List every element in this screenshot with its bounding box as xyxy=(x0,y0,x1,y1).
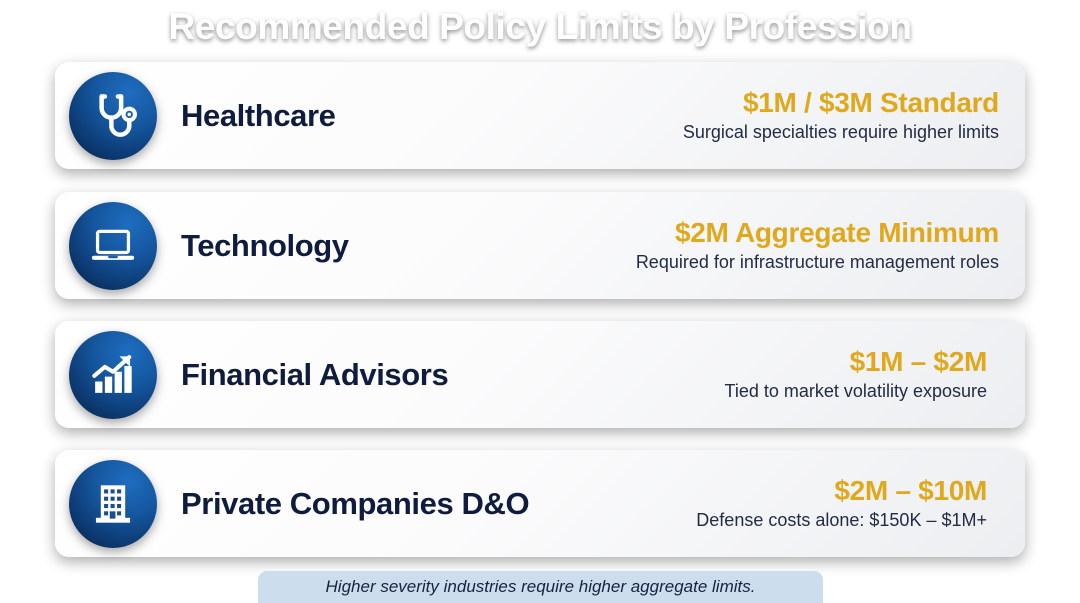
policy-limit-value: $1M – $2M xyxy=(850,346,987,377)
profession-name: Private Companies D&O xyxy=(181,486,529,522)
profession-label-wrap: Financial Advisors xyxy=(157,357,448,393)
limit-block: $1M / $3M Standard Surgical specialties … xyxy=(336,87,1025,145)
profession-name: Financial Advisors xyxy=(181,357,448,393)
office-building-icon xyxy=(69,460,157,548)
limit-block: $2M – $10M Defense costs alone: $150K – … xyxy=(529,475,1025,533)
policy-limit-value: $2M Aggregate Minimum xyxy=(675,217,999,248)
policy-limit-note: Defense costs alone: $150K – $1M+ xyxy=(696,509,987,532)
profession-row-private-companies-do: Private Companies D&O $2M – $10M Defense… xyxy=(55,450,1025,557)
profession-name: Technology xyxy=(181,228,349,264)
profession-label-wrap: Healthcare xyxy=(157,98,336,134)
profession-row-healthcare: Healthcare $1M / $3M Standard Surgical s… xyxy=(55,62,1025,169)
policy-limit-note: Surgical specialties require higher limi… xyxy=(683,121,999,144)
infographic-root: Recommended Policy Limits by Profession … xyxy=(0,0,1080,603)
footer-banner: Higher severity industries require highe… xyxy=(258,571,823,603)
policy-limit-note: Required for infrastructure management r… xyxy=(636,251,999,274)
profession-row-technology: Technology $2M Aggregate Minimum Require… xyxy=(55,192,1025,299)
growth-chart-icon xyxy=(69,331,157,419)
profession-name: Healthcare xyxy=(181,98,336,134)
policy-limit-value: $1M / $3M Standard xyxy=(743,87,999,118)
footer-text: Higher severity industries require highe… xyxy=(326,577,756,597)
page-title: Recommended Policy Limits by Profession xyxy=(0,6,1080,48)
limit-block: $2M Aggregate Minimum Required for infra… xyxy=(349,217,1025,275)
profession-row-financial-advisors: Financial Advisors $1M – $2M Tied to mar… xyxy=(55,321,1025,428)
policy-limit-value: $2M – $10M xyxy=(834,475,987,506)
profession-label-wrap: Private Companies D&O xyxy=(157,486,529,522)
limit-block: $1M – $2M Tied to market volatility expo… xyxy=(448,346,1025,404)
stethoscope-icon xyxy=(69,72,157,160)
policy-limit-note: Tied to market volatility exposure xyxy=(725,380,987,403)
laptop-icon xyxy=(69,202,157,290)
profession-label-wrap: Technology xyxy=(157,228,349,264)
